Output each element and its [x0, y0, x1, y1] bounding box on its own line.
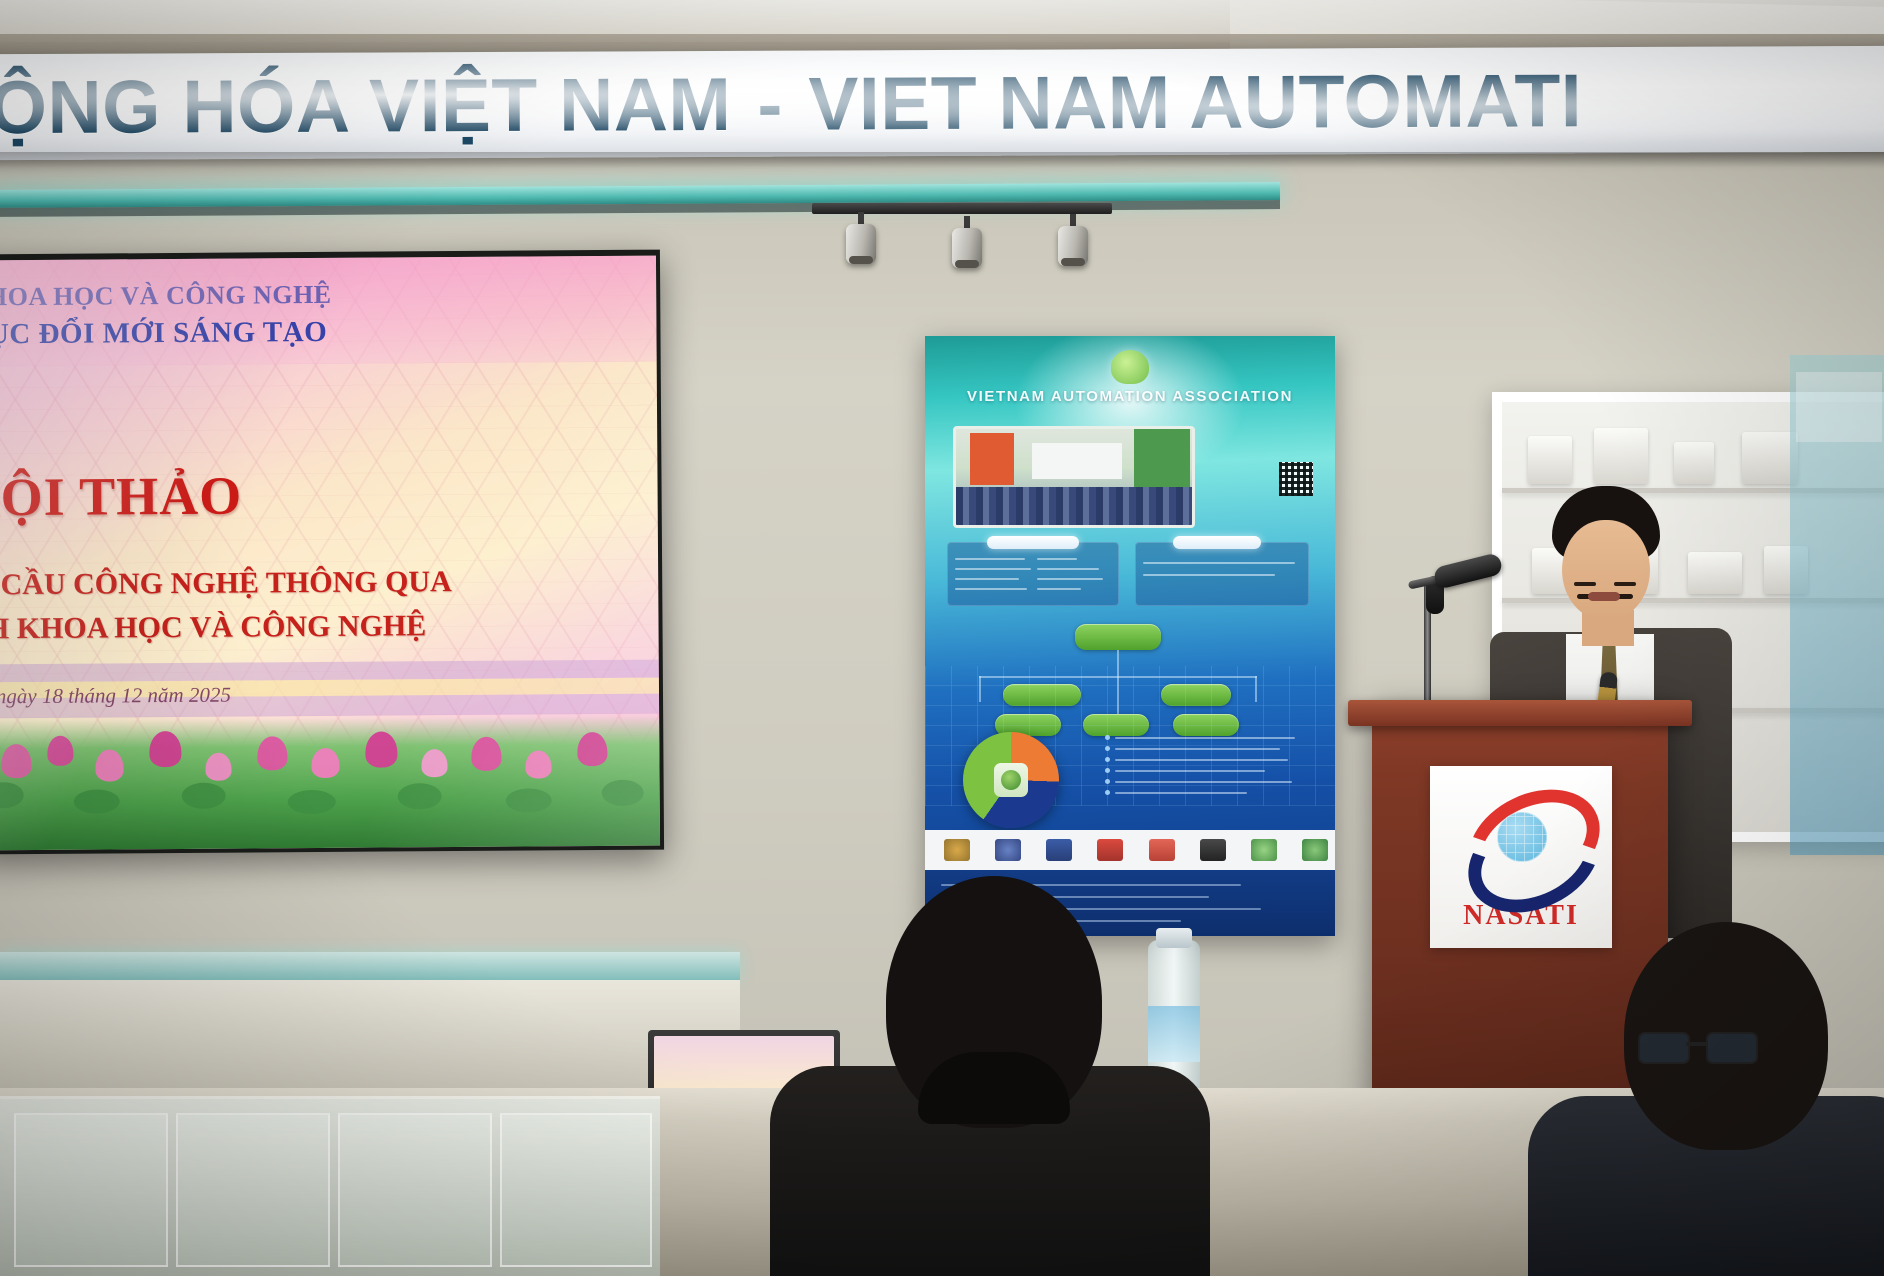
projection-screen-frame: KHOA HỌC VÀ CÔNG NGHỆ CỤC ĐỔI MỚI SÁNG T…: [0, 250, 664, 855]
glass-display-counter: [0, 1096, 660, 1276]
audience-member-right: [1528, 916, 1884, 1276]
banner-separator: -: [731, 61, 808, 147]
banner-title-vietnamese: ĐỘNG HÓA VIỆT NAM: [0, 61, 732, 150]
poster-leadership-card: [947, 542, 1119, 606]
poster-activities-card-header: [1173, 536, 1261, 549]
pie-chart-hub: [994, 763, 1028, 797]
association-logo-icon: [1111, 350, 1149, 384]
org-chart-root-node: [1075, 624, 1161, 650]
poster-pie-chart: [963, 732, 1059, 828]
eyeglasses-icon: [1638, 1032, 1756, 1062]
cabinet-item-1: [1528, 436, 1572, 484]
banner-drop-shadow: [0, 152, 1884, 168]
spotlight-2-icon: [952, 216, 982, 266]
podium-top-surface: [1348, 700, 1692, 726]
qr-code-icon: [1279, 462, 1313, 496]
poster-group-photo: [953, 426, 1195, 528]
slide-subtitle-line-1: G - CẦU CÔNG NGHỆ THÔNG QUA: [0, 565, 452, 602]
cabinet-item-2: [1594, 428, 1648, 484]
poster-bullet-list: [1115, 728, 1303, 803]
projection-screen: KHOA HỌC VÀ CÔNG NGHỆ CỤC ĐỔI MỚI SÁNG T…: [0, 256, 660, 851]
slide-subtitle-line-2: ỊCH KHOA HỌC VÀ CÔNG NGHỆ: [0, 609, 426, 646]
sponsor-8-logo: [1302, 839, 1328, 861]
speaker-mouth: [1588, 592, 1620, 601]
poster-leadership-card-header: [987, 536, 1079, 549]
spotlight-3-icon: [1058, 214, 1088, 264]
conference-photo-scene: ĐỘNG HÓA VIỆT NAM - VIET NAM AUTOMATI KH…: [0, 0, 1884, 1276]
audience-member-center: [770, 856, 1210, 1276]
poster-title: VIETNAM AUTOMATION ASSOCIATION: [925, 388, 1335, 405]
slide-header-line-1: KHOA HỌC VÀ CÔNG NGHỆ: [0, 280, 332, 313]
spotlight-1-icon: [846, 212, 876, 262]
counter-body: [0, 980, 740, 1090]
cabinet-item-3: [1674, 442, 1714, 484]
automation-association-poster: VIETNAM AUTOMATION ASSOCIATION: [925, 336, 1335, 936]
nasati-globe-icon: [1497, 812, 1547, 862]
speaker-face: [1562, 520, 1650, 620]
slide-date-line: Nội, ngày 18 tháng 12 năm 2025: [0, 683, 231, 710]
nasati-logo-icon: [1461, 782, 1581, 894]
slide-main-title: HỘI THẢO: [0, 465, 242, 529]
slide-lotus-border: [0, 716, 660, 851]
banner-title-english: VIET NAM AUTOMATI: [808, 57, 1582, 146]
sponsor-7-logo: [1251, 839, 1277, 861]
slide-header-line-2: CỤC ĐỔI MỚI SÁNG TẠO: [0, 316, 327, 352]
right-wall-sign: [1796, 372, 1882, 442]
venue-banner: ĐỘNG HÓA VIỆT NAM - VIET NAM AUTOMATI: [0, 46, 1884, 160]
counter-light-strip: [0, 952, 740, 980]
